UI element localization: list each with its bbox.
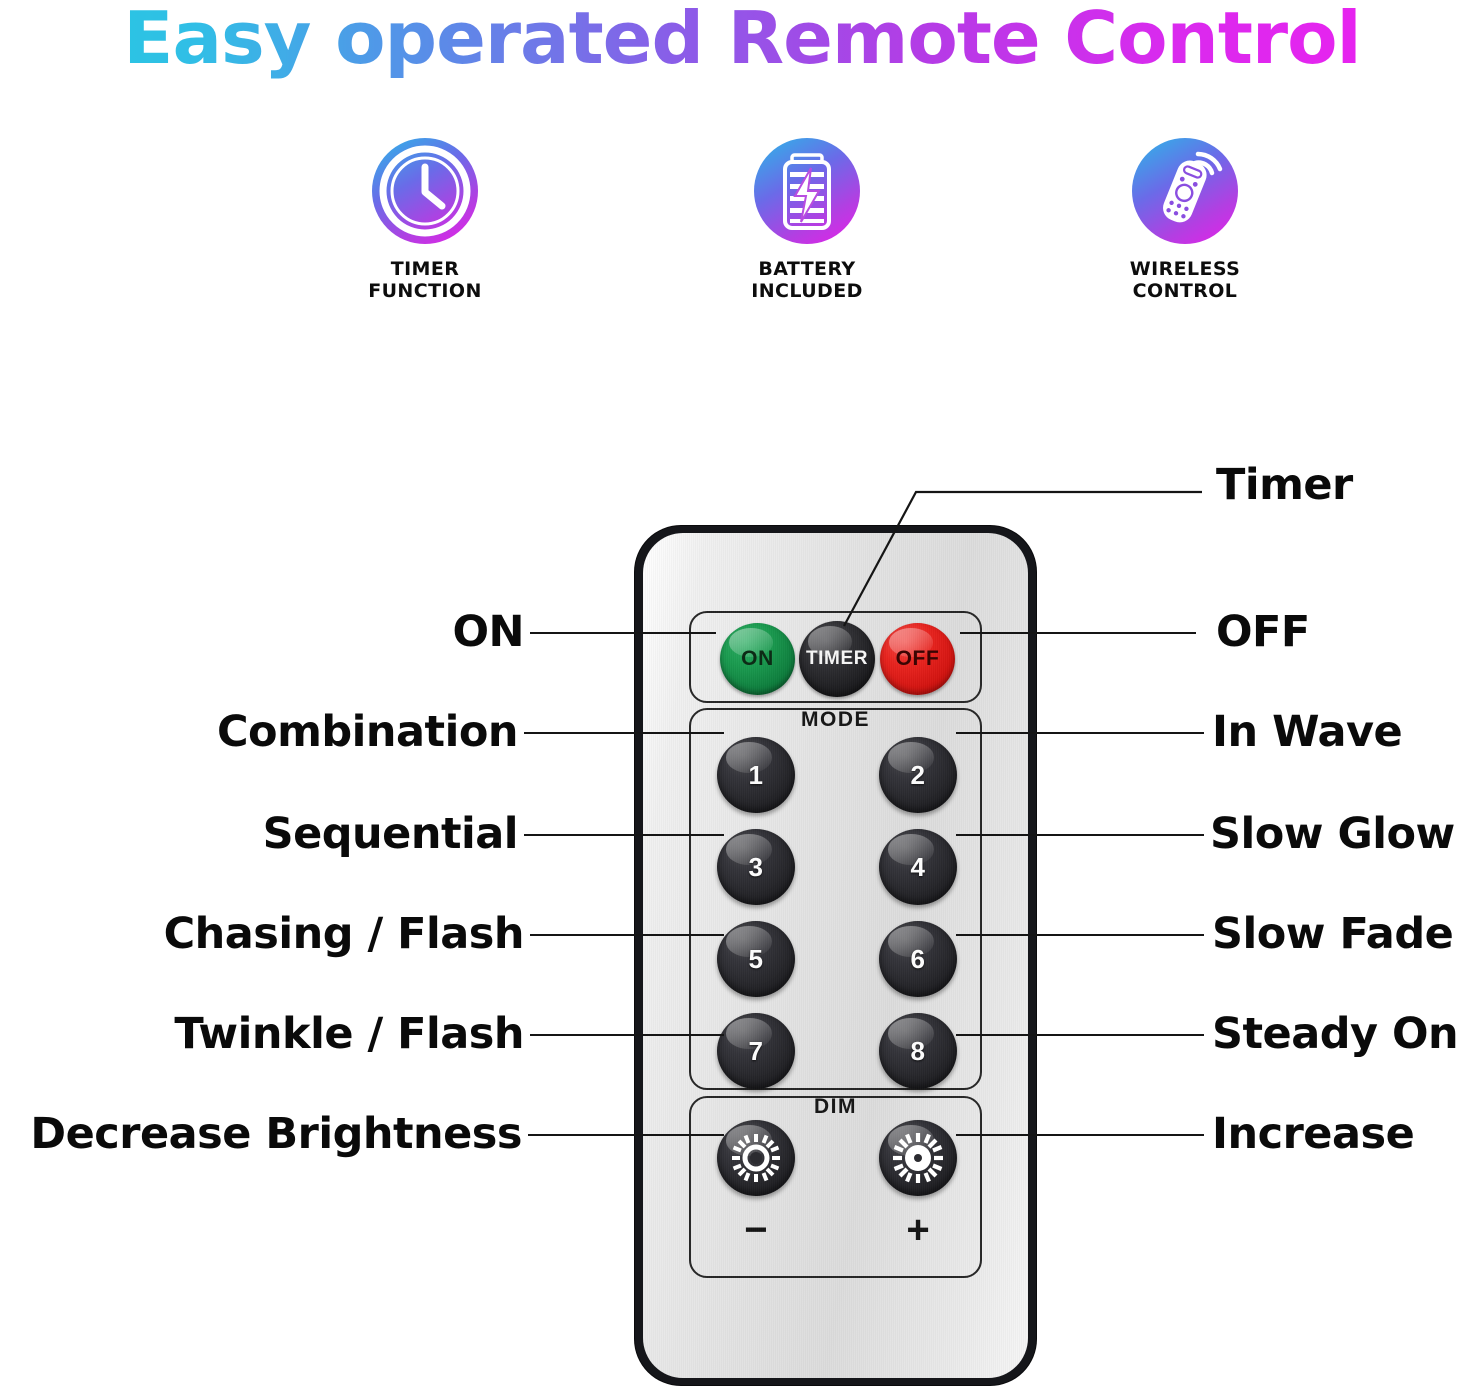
leader-line-off <box>960 632 1196 634</box>
callout-slow-fade: Slow Fade <box>1212 910 1453 958</box>
feature-label-line1: BATTERY <box>682 258 932 280</box>
on-button[interactable]: ON <box>720 623 795 695</box>
feature-label-line2: INCLUDED <box>682 280 932 302</box>
on-button-label: ON <box>741 647 774 671</box>
mode-button-7[interactable]: 7 <box>717 1013 795 1089</box>
callout-in-wave: In Wave <box>1212 708 1402 756</box>
leader-line-sequential <box>524 834 724 836</box>
battery-charge-icon <box>754 138 860 244</box>
mode-button-label: 1 <box>748 760 763 791</box>
leader-line-decrease-brightness <box>528 1134 724 1136</box>
page-title: Easy operated Remote Control <box>0 0 1484 80</box>
remote-control-device: ON TIMER OFF MODE 1 <box>635 526 1036 1385</box>
mode-button-group: MODE 1 2 3 4 <box>689 708 982 1090</box>
callout-chasing-flash: Chasing / Flash <box>0 910 524 958</box>
callout-combination: Combination <box>0 708 518 756</box>
callout-on: ON <box>0 608 524 656</box>
mode-button-5[interactable]: 5 <box>717 921 795 997</box>
leader-line-in-wave <box>956 732 1204 734</box>
infographic-canvas: Easy operated Remote Control TIMER FUNCT… <box>0 0 1484 1388</box>
feature-label-line1: TIMER <box>300 258 550 280</box>
dim-button-group: DIM <box>689 1096 982 1278</box>
mode-button-label: 4 <box>910 852 925 883</box>
mode-button-4[interactable]: 4 <box>879 829 957 905</box>
callout-steady-on: Steady On <box>1212 1010 1458 1058</box>
minus-sign-label: − <box>717 1210 795 1250</box>
mode-button-1[interactable]: 1 <box>717 737 795 813</box>
mode-button-label: 7 <box>748 1036 763 1067</box>
battery-charge-icon-circle <box>754 138 860 244</box>
feature-label-line2: CONTROL <box>1060 280 1310 302</box>
brightness-low-icon <box>729 1131 783 1185</box>
feature-label-line1: WIRELESS <box>1060 258 1310 280</box>
clock-icon-circle <box>372 138 478 244</box>
dim-section-title: DIM <box>691 1095 980 1119</box>
callout-twinkle-flash: Twinkle / Flash <box>0 1010 524 1058</box>
clock-icon <box>372 138 478 244</box>
callout-increase: Increase <box>1212 1110 1414 1158</box>
mode-button-2[interactable]: 2 <box>879 737 957 813</box>
brightness-high-icon <box>891 1131 945 1185</box>
leader-line-steady-on <box>956 1034 1204 1036</box>
remote-signal-icon <box>1132 138 1238 244</box>
leader-line-increase <box>956 1134 1204 1136</box>
mode-button-8[interactable]: 8 <box>879 1013 957 1089</box>
callout-slow-glow: Slow Glow <box>1210 810 1455 858</box>
feature-label-line2: FUNCTION <box>300 280 550 302</box>
leader-line-twinkle-flash <box>530 1034 724 1036</box>
mode-button-6[interactable]: 6 <box>879 921 957 997</box>
mode-button-label: 5 <box>748 944 763 975</box>
timer-button-label: TIMER <box>806 648 868 670</box>
mode-button-label: 6 <box>910 944 925 975</box>
plus-sign-label: + <box>879 1210 957 1250</box>
mode-section-title: MODE <box>691 708 980 732</box>
callout-decrease-brightness: Decrease Brightness <box>0 1110 522 1158</box>
callout-off: OFF <box>1216 608 1310 656</box>
brightness-increase-button[interactable] <box>879 1120 957 1196</box>
leader-line-timer <box>830 470 1210 640</box>
callout-timer: Timer <box>1216 461 1353 509</box>
remote-faceplate: ON TIMER OFF MODE 1 <box>643 533 1028 1378</box>
leader-line-combination <box>524 732 724 734</box>
off-button-label: OFF <box>896 647 940 671</box>
remote-signal-icon-circle <box>1132 138 1238 244</box>
mode-button-label: 8 <box>910 1036 925 1067</box>
feature-timer-function: TIMER FUNCTION <box>300 138 550 302</box>
feature-wireless-control: WIRELESS CONTROL <box>1060 138 1310 302</box>
brightness-decrease-button[interactable] <box>717 1120 795 1196</box>
callout-sequential: Sequential <box>0 810 518 858</box>
leader-line-on <box>530 632 716 634</box>
mode-button-3[interactable]: 3 <box>717 829 795 905</box>
leader-line-chasing-flash <box>530 934 724 936</box>
mode-button-label: 2 <box>910 760 925 791</box>
feature-badge-row: TIMER FUNCTION BATTERY INCLUDED <box>0 138 1484 318</box>
leader-line-slow-glow <box>956 834 1204 836</box>
feature-battery-included: BATTERY INCLUDED <box>682 138 932 302</box>
leader-line-slow-fade <box>956 934 1204 936</box>
mode-button-label: 3 <box>748 852 763 883</box>
